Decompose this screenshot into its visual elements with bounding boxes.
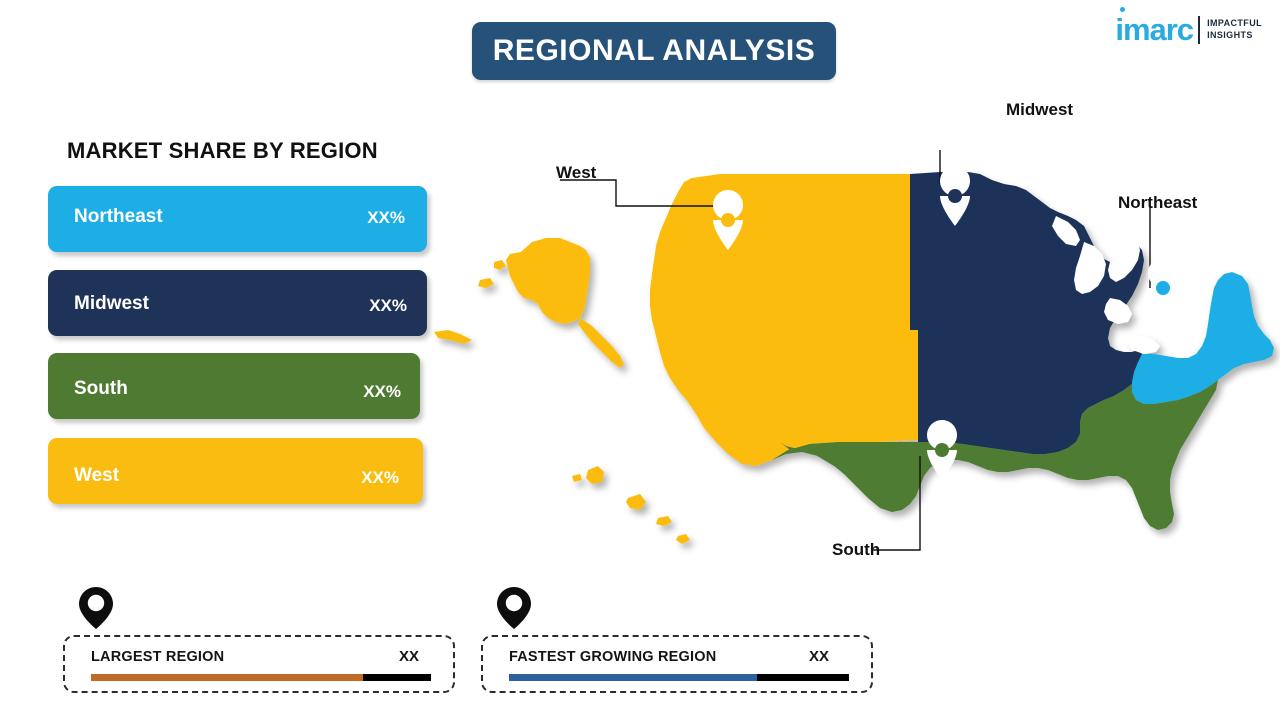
market-share-heading: MARKET SHARE BY REGION bbox=[67, 138, 378, 164]
map-pin-south[interactable] bbox=[927, 420, 957, 480]
page-title: REGIONAL ANALYSIS bbox=[493, 34, 815, 68]
fastest-region-value: XX bbox=[809, 648, 829, 665]
us-regional-map bbox=[420, 150, 1280, 570]
logo-divider bbox=[1198, 16, 1200, 44]
map-region-west[interactable] bbox=[650, 174, 918, 466]
fastest-region-label: FASTEST GROWING REGION bbox=[509, 649, 716, 665]
share-bar-west-label: West bbox=[74, 465, 119, 487]
share-bar-west-value: XX% bbox=[361, 468, 399, 488]
map-region-alaska[interactable] bbox=[506, 238, 590, 324]
slide-canvas: REGIONAL ANALYSIS imarc IMPACTFUL INSIGH… bbox=[0, 0, 1280, 720]
callout-label-northeast: Northeast bbox=[1118, 193, 1197, 213]
logo-wordmark: imarc bbox=[1115, 14, 1193, 45]
largest-region-progress-track bbox=[91, 674, 431, 681]
largest-region-pin-icon bbox=[78, 586, 114, 630]
share-bar-midwest-value: XX% bbox=[369, 296, 407, 316]
map-region-hawaii[interactable] bbox=[572, 466, 690, 544]
share-bar-midwest-label: Midwest bbox=[74, 293, 149, 315]
largest-region-label: LARGEST REGION bbox=[91, 649, 224, 665]
map-region-south-texas bbox=[772, 442, 918, 512]
callout-label-south: South bbox=[832, 540, 880, 560]
share-bar-south[interactable]: South XX% bbox=[48, 353, 420, 419]
fastest-region-card[interactable]: FASTEST GROWING REGION XX bbox=[481, 635, 873, 693]
callout-label-midwest: Midwest bbox=[1006, 100, 1073, 120]
largest-region-card[interactable]: LARGEST REGION XX bbox=[63, 635, 455, 693]
logo-tagline-line2: INSIGHTS bbox=[1207, 30, 1262, 41]
largest-region-value: XX bbox=[399, 648, 419, 665]
map-region-alaska-panhandle bbox=[578, 318, 624, 368]
share-bar-northeast[interactable]: Northeast XX% bbox=[48, 186, 427, 252]
fastest-region-pin-icon bbox=[496, 586, 532, 630]
imarc-logo: imarc IMPACTFUL INSIGHTS bbox=[1115, 14, 1262, 45]
largest-region-progress-fill bbox=[91, 674, 363, 681]
share-bar-south-value: XX% bbox=[363, 382, 401, 402]
share-bar-west[interactable]: West XX% bbox=[48, 438, 423, 504]
share-bar-south-label: South bbox=[74, 378, 128, 400]
share-bar-northeast-value: XX% bbox=[367, 208, 405, 228]
map-pin-northeast[interactable] bbox=[1148, 258, 1178, 318]
callout-label-west: West bbox=[556, 163, 596, 183]
share-bar-midwest[interactable]: Midwest XX% bbox=[48, 270, 427, 336]
page-title-banner: REGIONAL ANALYSIS bbox=[472, 22, 836, 80]
share-bar-northeast-label: Northeast bbox=[74, 206, 163, 228]
fastest-region-progress-fill bbox=[509, 674, 757, 681]
fastest-region-progress-track bbox=[509, 674, 849, 681]
map-region-alaska-islands bbox=[434, 260, 506, 344]
us-map-svg bbox=[420, 150, 1280, 570]
logo-tagline-line1: IMPACTFUL bbox=[1207, 18, 1262, 29]
logo-tagline: IMPACTFUL INSIGHTS bbox=[1207, 18, 1262, 41]
